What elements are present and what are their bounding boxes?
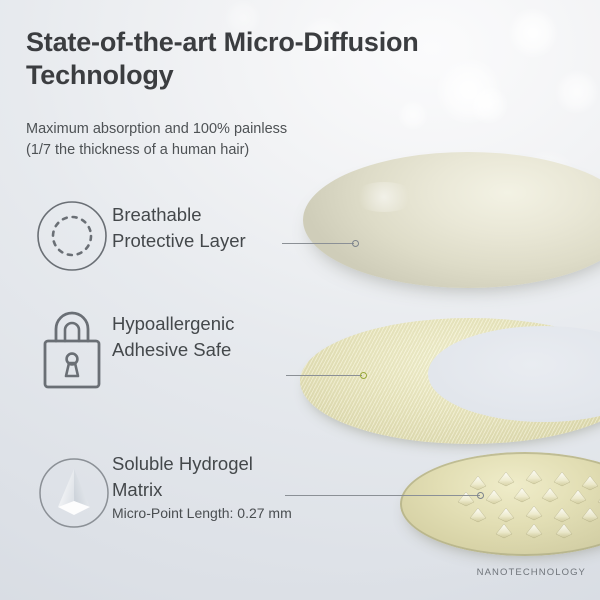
feature-labels: Soluble Hydrogel Matrix Micro-Point Leng… (112, 451, 327, 524)
leader-marker-hydrogel (477, 492, 484, 499)
micro-needle-pyramid-icon (36, 455, 112, 531)
bokeh-light-spot (555, 70, 599, 114)
page-subtitle: Maximum absorption and 100% painless (1/… (26, 119, 386, 161)
leader-marker-protective (352, 240, 359, 247)
page-title: State-of-the-art Micro-Diffusion Technol… (26, 26, 456, 92)
leader-line-adhesive (286, 375, 362, 376)
footer-nanotechnology-label: NANOTECHNOLOGY (477, 567, 586, 578)
feature-detail-micro-point-length: Micro-Point Length: 0.27 mm (112, 503, 327, 524)
protective-layer-highlight (352, 182, 416, 212)
breathable-dashed-circle-icon (36, 200, 108, 272)
padlock-icon (36, 309, 108, 391)
feature-label-line-1: Hypoallergenic (112, 311, 327, 337)
product-layer-protective (303, 152, 600, 288)
subtitle-line-2: (1/7 the thickness of a human hair) (26, 140, 386, 161)
bokeh-light-spot (398, 100, 428, 130)
feature-label-line-2: Adhesive Safe (112, 337, 327, 363)
feature-label-line-2: Matrix (112, 477, 327, 503)
product-layer-hydrogel-microneedles (400, 452, 600, 556)
feature-label-line-2: Protective Layer (112, 228, 327, 254)
bokeh-light-spot (470, 86, 508, 124)
product-infographic-poster: State-of-the-art Micro-Diffusion Technol… (0, 0, 600, 600)
product-layer-adhesive (300, 318, 600, 444)
leader-marker-adhesive (360, 372, 367, 379)
feature-label-line-1: Soluble Hydrogel (112, 451, 327, 477)
feature-labels: Hypoallergenic Adhesive Safe (112, 311, 327, 363)
feature-labels: Breathable Protective Layer (112, 202, 327, 254)
bokeh-light-spot (508, 8, 558, 58)
subtitle-line-1: Maximum absorption and 100% painless (26, 119, 386, 140)
feature-label-line-1: Breathable (112, 202, 327, 228)
